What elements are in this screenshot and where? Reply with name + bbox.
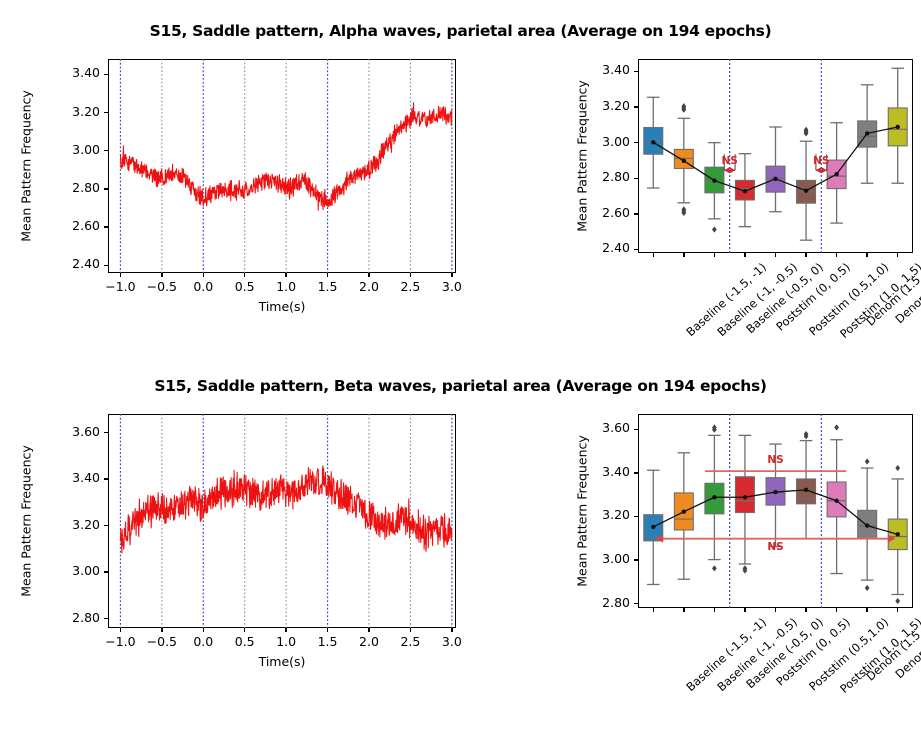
y-axis-label: Mean Pattern Frequency <box>575 80 590 232</box>
x-tickmark <box>714 608 715 612</box>
x-tickmark <box>836 253 837 257</box>
y-tickmark <box>104 74 108 75</box>
y-tickmark <box>634 516 638 517</box>
x-axis-label: Time(s) <box>108 654 456 669</box>
x-tickmark <box>161 628 162 632</box>
y-tickmark <box>104 226 108 227</box>
y-tick-label: 2.40 <box>36 256 100 271</box>
y-tick-label: 2.80 <box>36 180 100 195</box>
x-tickmark <box>775 253 776 257</box>
y-tickmark <box>634 249 638 250</box>
x-axis-label: Time(s) <box>108 299 456 314</box>
x-tickmark <box>161 273 162 277</box>
alpha-timeseries-panel: 2.402.602.803.003.203.40−1.0−0.50.00.51.… <box>0 45 470 335</box>
y-axis-label: Mean Pattern Frequency <box>19 445 34 597</box>
x-tickmark <box>368 628 369 632</box>
y-tickmark <box>634 178 638 179</box>
x-tickmark <box>744 608 745 612</box>
y-tickmark <box>634 429 638 430</box>
y-tickmark <box>634 559 638 560</box>
x-tickmark <box>653 608 654 612</box>
y-tick-label: 2.60 <box>36 218 100 233</box>
alpha-boxplot-panel: NSNS2.402.602.803.003.203.40Baseline (-1… <box>560 45 921 375</box>
y-tickmark <box>634 603 638 604</box>
y-tick-label: 3.20 <box>36 517 100 532</box>
y-axis-label: Mean Pattern Frequency <box>575 435 590 587</box>
x-tickmark <box>285 273 286 277</box>
x-tickmark <box>368 273 369 277</box>
x-tickmark <box>451 628 452 632</box>
x-tickmark <box>244 273 245 277</box>
y-tickmark <box>634 71 638 72</box>
ns-significance-label: NS <box>805 155 837 167</box>
x-tickmark <box>653 253 654 257</box>
y-tick-label: 3.00 <box>36 142 100 157</box>
x-tickmark <box>244 628 245 632</box>
x-tickmark <box>744 253 745 257</box>
x-tickmark <box>120 273 121 277</box>
x-tickmark <box>410 628 411 632</box>
y-tickmark <box>634 106 638 107</box>
ns-significance-label: NS <box>760 454 792 466</box>
beta-boxplot-panel: NSNS2.803.003.203.403.60Baseline (-1.5, … <box>560 400 921 730</box>
ns-significance-label: NS <box>760 541 792 553</box>
x-tickmark <box>805 608 806 612</box>
y-axis-label: Mean Pattern Frequency <box>19 90 34 242</box>
ns-significance-label: NS <box>714 155 746 167</box>
y-tick-label: 3.40 <box>566 62 630 77</box>
x-tickmark <box>327 628 328 632</box>
x-tickmark <box>836 608 837 612</box>
panel-title-alpha: S15, Saddle pattern, Alpha waves, pariet… <box>0 22 921 40</box>
y-tickmark <box>104 112 108 113</box>
y-tick-label: 3.40 <box>36 470 100 485</box>
y-tick-label: 3.40 <box>36 65 100 80</box>
y-tickmark <box>104 188 108 189</box>
x-tickmark <box>327 273 328 277</box>
x-tickmark <box>410 273 411 277</box>
x-tickmark <box>120 628 121 632</box>
plot-frame <box>638 59 913 253</box>
y-tick-label: 2.80 <box>566 595 630 610</box>
panel-title-beta: S15, Saddle pattern, Beta waves, parieta… <box>0 377 921 395</box>
y-tick-label: 3.20 <box>36 104 100 119</box>
x-tickmark <box>897 253 898 257</box>
x-tickmark <box>775 608 776 612</box>
x-tickmark <box>897 608 898 612</box>
x-tickmark <box>451 273 452 277</box>
y-tick-label: 2.40 <box>566 240 630 255</box>
x-tick-label: 3.0 <box>422 634 482 649</box>
x-tickmark <box>203 273 204 277</box>
x-tickmark <box>285 628 286 632</box>
figure-root: S15, Saddle pattern, Alpha waves, pariet… <box>0 0 921 734</box>
x-tickmark <box>714 253 715 257</box>
x-tickmark <box>805 253 806 257</box>
x-tick-label: 3.0 <box>422 279 482 294</box>
y-tickmark <box>104 618 108 619</box>
y-tickmark <box>104 432 108 433</box>
x-tickmark <box>683 253 684 257</box>
y-tickmark <box>104 150 108 151</box>
plot-frame <box>108 414 456 628</box>
beta-timeseries-panel: 2.803.003.203.403.60−1.0−0.50.00.51.01.5… <box>0 400 470 690</box>
y-tickmark <box>634 472 638 473</box>
x-tickmark <box>683 608 684 612</box>
x-tickmark <box>203 628 204 632</box>
plot-frame <box>638 414 913 608</box>
x-tickmark <box>866 253 867 257</box>
y-tickmark <box>104 478 108 479</box>
y-tickmark <box>104 571 108 572</box>
y-tickmark <box>634 142 638 143</box>
plot-frame <box>108 59 456 273</box>
y-tick-label: 3.60 <box>566 420 630 435</box>
y-tick-label: 3.00 <box>36 563 100 578</box>
x-tickmark <box>866 608 867 612</box>
y-tick-label: 2.80 <box>36 610 100 625</box>
y-tickmark <box>104 525 108 526</box>
y-tickmark <box>634 213 638 214</box>
y-tickmark <box>104 265 108 266</box>
y-tick-label: 3.60 <box>36 424 100 439</box>
